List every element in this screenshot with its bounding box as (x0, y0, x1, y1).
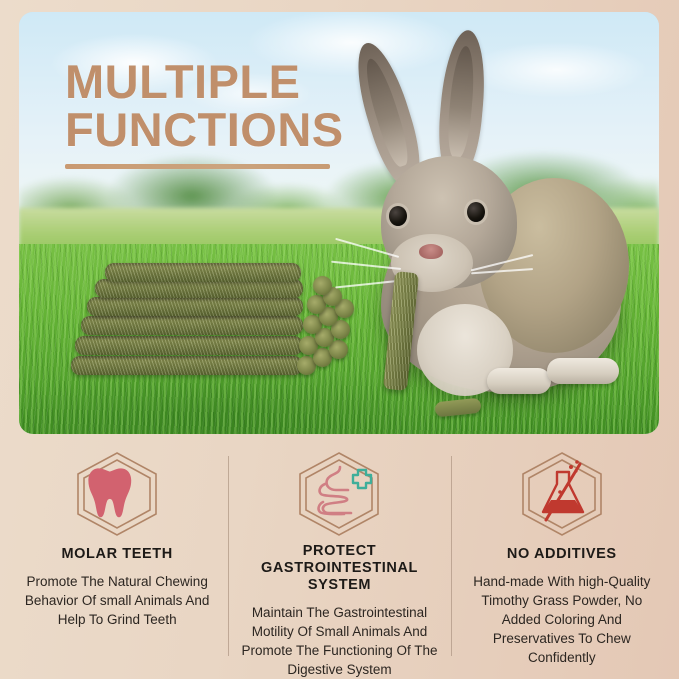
title-line-1: MULTIPLE (65, 58, 365, 106)
feature-gastrointestinal: PROTECT GASTROINTESTINAL SYSTEM Maintain… (228, 448, 450, 679)
tooth-icon (71, 450, 163, 538)
rabbit-nose (419, 244, 443, 259)
no-flask-icon (516, 450, 608, 538)
rabbit-eye-right (467, 202, 485, 222)
feature-description: Maintain The Gastrointestinal Motility O… (238, 603, 440, 679)
feature-description: Promote The Natural Chewing Behavior Of … (16, 572, 218, 629)
rabbit-foot-rear (547, 358, 619, 384)
feature-title: MOLAR TEETH (62, 546, 173, 563)
rabbit-foot-front (487, 368, 551, 394)
feature-no-additives: NO ADDITIVES Hand-made With high-Quality… (451, 448, 673, 679)
title-underline (65, 164, 330, 169)
hero-photo: MULTIPLE FUNCTIONS (19, 12, 659, 434)
feature-description: Hand-made With high-Quality Timothy Gras… (461, 572, 663, 667)
feature-title: NO ADDITIVES (507, 546, 617, 563)
feature-list: MOLAR TEETH Promote The Natural Chewing … (0, 440, 679, 679)
chew-stick-stack (65, 252, 365, 402)
rabbit-eye-left (389, 206, 407, 226)
feature-molar-teeth: MOLAR TEETH Promote The Natural Chewing … (6, 448, 228, 679)
feature-title: PROTECT GASTROINTESTINAL SYSTEM (238, 543, 440, 594)
chew-stick-ground (434, 398, 481, 418)
title-line-2: FUNCTIONS (65, 106, 365, 154)
product-infographic: MULTIPLE FUNCTIONS MOLAR TEETH Promote T… (0, 0, 679, 679)
stomach-intestine-icon (293, 450, 385, 535)
rabbit (329, 28, 649, 428)
page-title: MULTIPLE FUNCTIONS (65, 58, 365, 169)
